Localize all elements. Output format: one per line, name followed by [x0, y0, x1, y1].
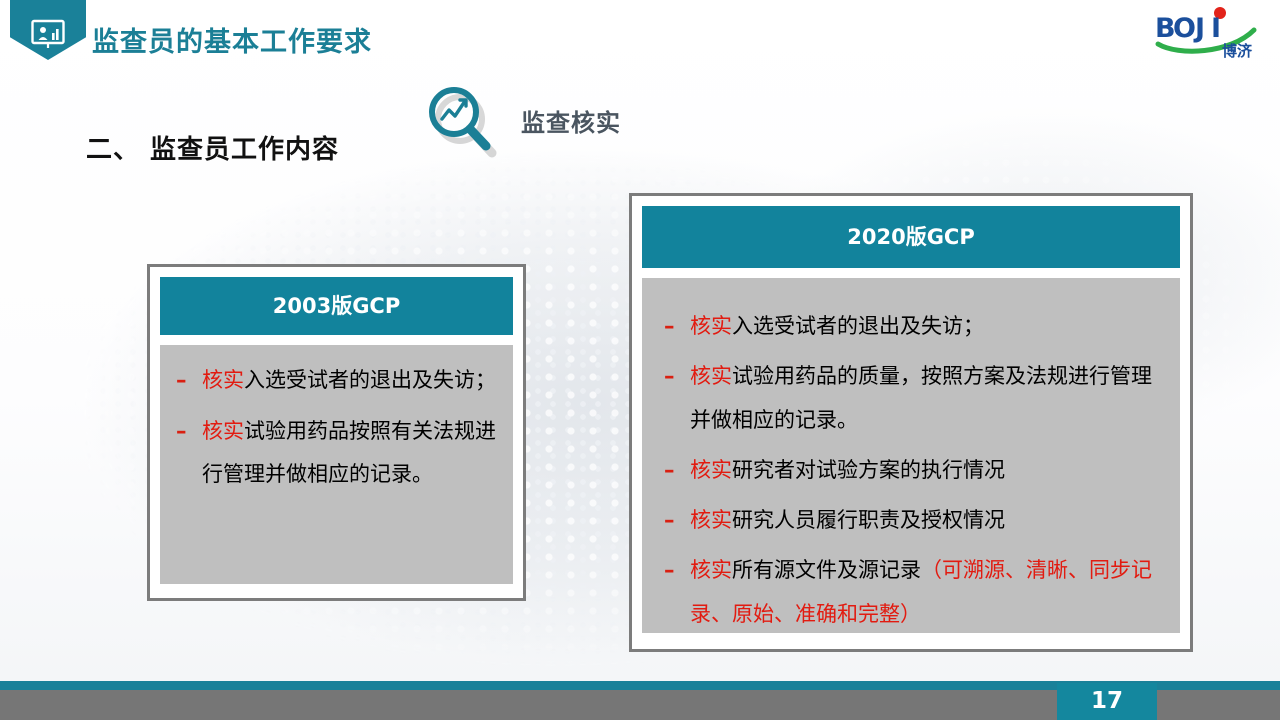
presentation-chart-icon	[28, 18, 68, 50]
bullet-highlight: 核实	[690, 314, 732, 338]
page-number-badge: 17	[1057, 683, 1157, 720]
magnifier-trend-icon	[424, 86, 508, 158]
bullet-text: 研究者对试验方案的执行情况	[732, 458, 1005, 482]
card-body-gcp-2020: –核实入选受试者的退出及失访； –核实试验用药品的质量，按照方案及法规进行管理并…	[642, 278, 1180, 633]
bullet-highlight: 核实	[202, 368, 244, 392]
list-item: –核实研究人员履行职责及授权情况	[660, 498, 1164, 542]
card-title-gcp-2003: 2003版GCP	[160, 277, 513, 335]
bullet-highlight: 核实	[690, 508, 732, 532]
bullet-text: 试验用药品的质量，按照方案及法规进行管理并做相应的记录。	[690, 364, 1152, 432]
card-gcp-2003: 2003版GCP –核实入选受试者的退出及失访； –核实试验用药品按照有关法规进…	[147, 264, 526, 601]
bullet-text: 试验用药品按照有关法规进行管理并做相应的记录。	[202, 419, 496, 486]
bullet-dash-icon: –	[664, 548, 675, 592]
card-title-gcp-2020: 2020版GCP	[642, 206, 1180, 268]
bullet-list-gcp-2020: –核实入选受试者的退出及失访； –核实试验用药品的质量，按照方案及法规进行管理并…	[660, 304, 1164, 636]
list-item: –核实入选受试者的退出及失访；	[660, 304, 1164, 348]
list-item: –核实研究者对试验方案的执行情况	[660, 448, 1164, 492]
bullet-highlight: 核实	[690, 458, 732, 482]
bullet-dash-icon: –	[664, 304, 675, 348]
brand-logo: B O J I 博济	[1150, 4, 1266, 62]
list-item: –核实入选受试者的退出及失访；	[172, 359, 501, 402]
bullet-dash-icon: –	[664, 354, 675, 398]
svg-text:I: I	[1211, 13, 1221, 44]
svg-text:博济: 博济	[1222, 42, 1253, 60]
bullet-highlight: 核实	[690, 558, 732, 582]
bullet-dash-icon: –	[176, 359, 187, 402]
bullet-dash-icon: –	[176, 410, 187, 453]
bullet-highlight: 核实	[690, 364, 732, 388]
card-body-gcp-2003: –核实入选受试者的退出及失访； –核实试验用药品按照有关法规进行管理并做相应的记…	[160, 345, 513, 584]
slide-canvas: 监查员的基本工作要求 B O J I 博济 二、 监查员工作内容 监查核实 20…	[0, 0, 1280, 720]
section-subject-label: 监查核实	[521, 103, 621, 138]
list-item: –核实试验用药品的质量，按照方案及法规进行管理并做相应的记录。	[660, 354, 1164, 442]
bullet-text: 入选受试者的退出及失访；	[244, 368, 496, 392]
bullet-dash-icon: –	[664, 498, 675, 542]
bullet-text: 入选受试者的退出及失访；	[732, 314, 984, 338]
card-gcp-2020: 2020版GCP –核实入选受试者的退出及失访； –核实试验用药品的质量，按照方…	[629, 193, 1193, 652]
bullet-text: 研究人员履行职责及授权情况	[732, 508, 1005, 532]
section-heading: 二、 监查员工作内容	[86, 129, 339, 166]
bullet-list-gcp-2003: –核实入选受试者的退出及失访； –核实试验用药品按照有关法规进行管理并做相应的记…	[172, 359, 501, 496]
svg-text:O: O	[1173, 13, 1196, 44]
list-item: –核实试验用药品按照有关法规进行管理并做相应的记录。	[172, 410, 501, 496]
bullet-dash-icon: –	[664, 448, 675, 492]
list-item: –核实所有源文件及源记录（可溯源、清晰、同步记录、原始、准确和完整）	[660, 548, 1164, 636]
bullet-highlight: 核实	[202, 419, 244, 443]
bullet-text: 所有源文件及源记录	[732, 558, 921, 582]
page-title: 监查员的基本工作要求	[92, 20, 372, 59]
svg-text:J: J	[1193, 13, 1205, 44]
